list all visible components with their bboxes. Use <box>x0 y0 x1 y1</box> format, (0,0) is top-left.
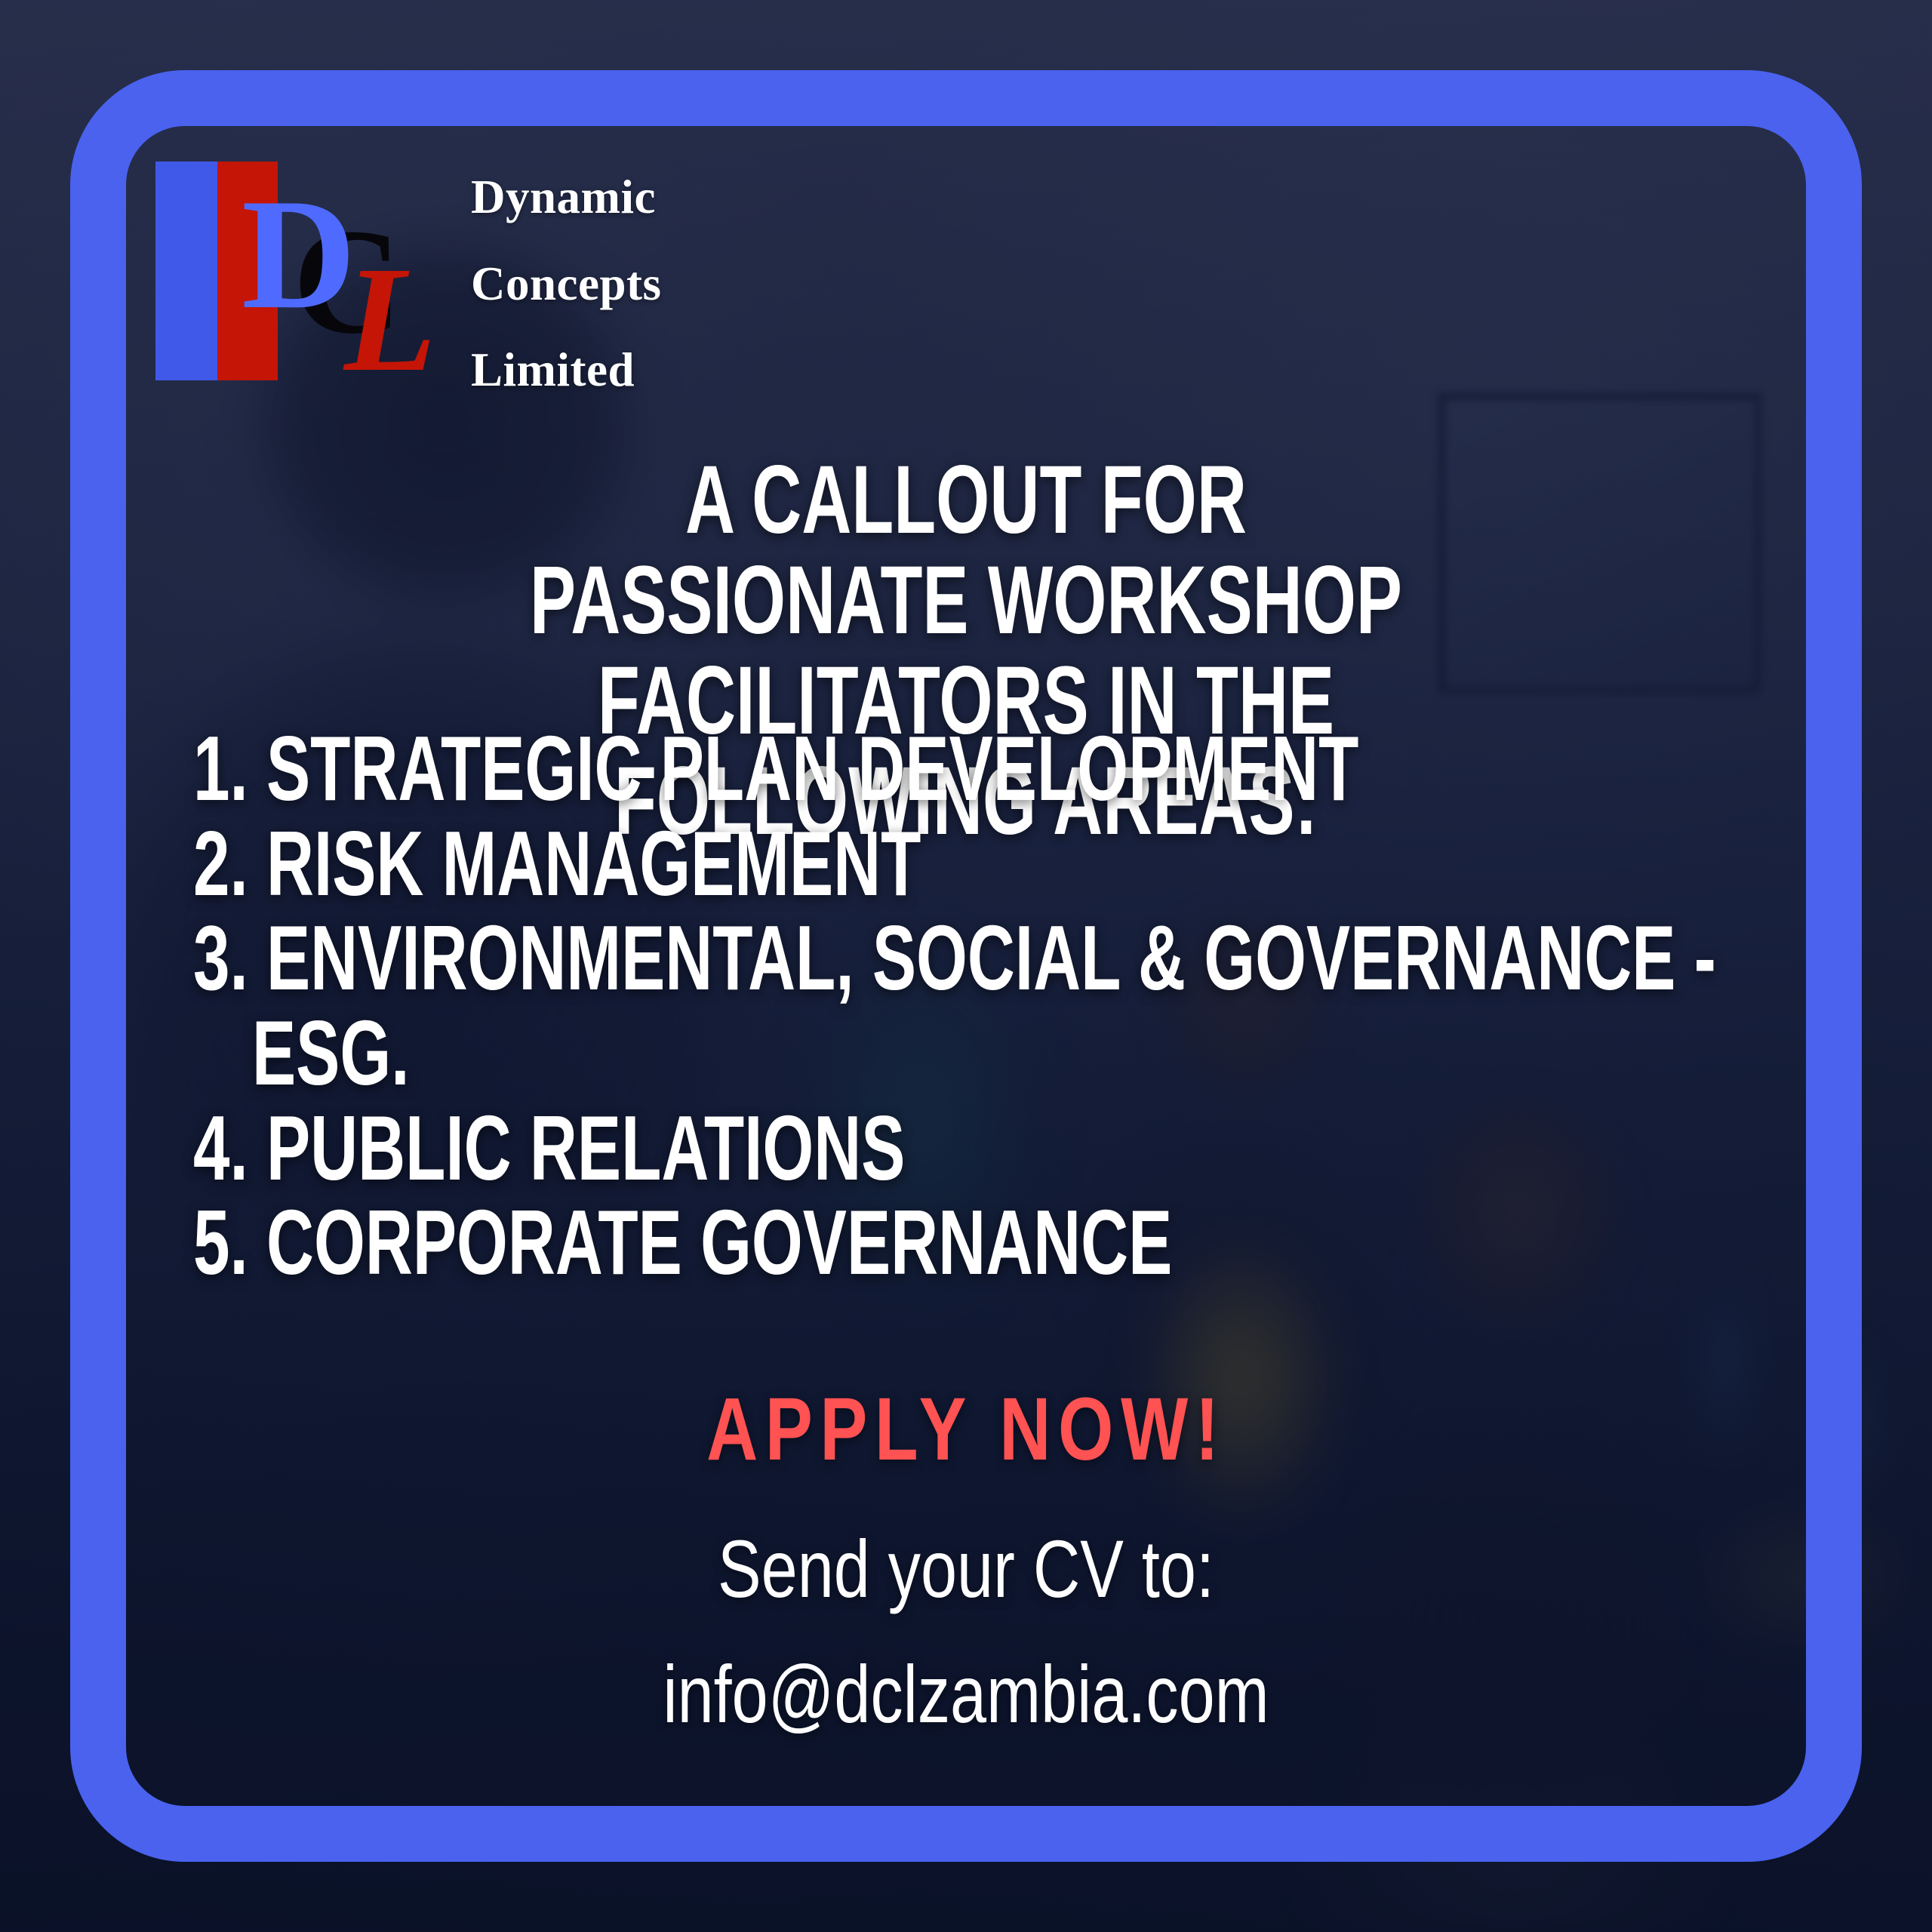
apply-now-label: APPLY NOW! <box>706 1378 1226 1481</box>
contact-block: Send your CV to: info@dclzambia.com <box>125 1506 1807 1758</box>
company-name-line-3: Limited <box>471 327 662 414</box>
list-item: 1. STRATEGIC PLAN DEVELOPMENT <box>193 721 1347 817</box>
poster-content: D C L Dynamic Concepts Limited A CALLOUT… <box>125 125 1807 1807</box>
contact-prompt: Send your CV to: <box>294 1506 1638 1632</box>
list-item: 5. CORPORATE GOVERNANCE <box>193 1195 1347 1291</box>
company-name-line-2: Concepts <box>471 241 662 328</box>
recruitment-poster: D C L Dynamic Concepts Limited A CALLOUT… <box>0 0 1932 1932</box>
company-name: Dynamic Concepts Limited <box>471 146 662 414</box>
list-item: 4. PUBLIC RELATIONS <box>193 1101 1347 1196</box>
apply-now-cta[interactable]: APPLY NOW! <box>125 1378 1807 1481</box>
logo-mark: D C L <box>149 146 444 388</box>
areas-list: 1. STRATEGIC PLAN DEVELOPMENT 2. RISK MA… <box>125 721 1807 1291</box>
company-name-line-1: Dynamic <box>471 154 662 241</box>
list-item: 3. ENVIRONMENTAL, SOCIAL & GOVERNANCE - <box>193 911 1347 1006</box>
company-logo: D C L Dynamic Concepts Limited <box>149 146 662 414</box>
contact-email[interactable]: info@dclzambia.com <box>294 1632 1638 1757</box>
logo-letter-d: D <box>241 175 356 334</box>
logo-blue-bar <box>155 162 217 380</box>
list-item: ESG. <box>252 1006 1364 1101</box>
logo-letter-l: L <box>344 245 436 395</box>
list-item: 2. RISK MANAGEMENT <box>193 817 1347 912</box>
headline-line-1: A CALLOUT FOR <box>365 450 1567 550</box>
